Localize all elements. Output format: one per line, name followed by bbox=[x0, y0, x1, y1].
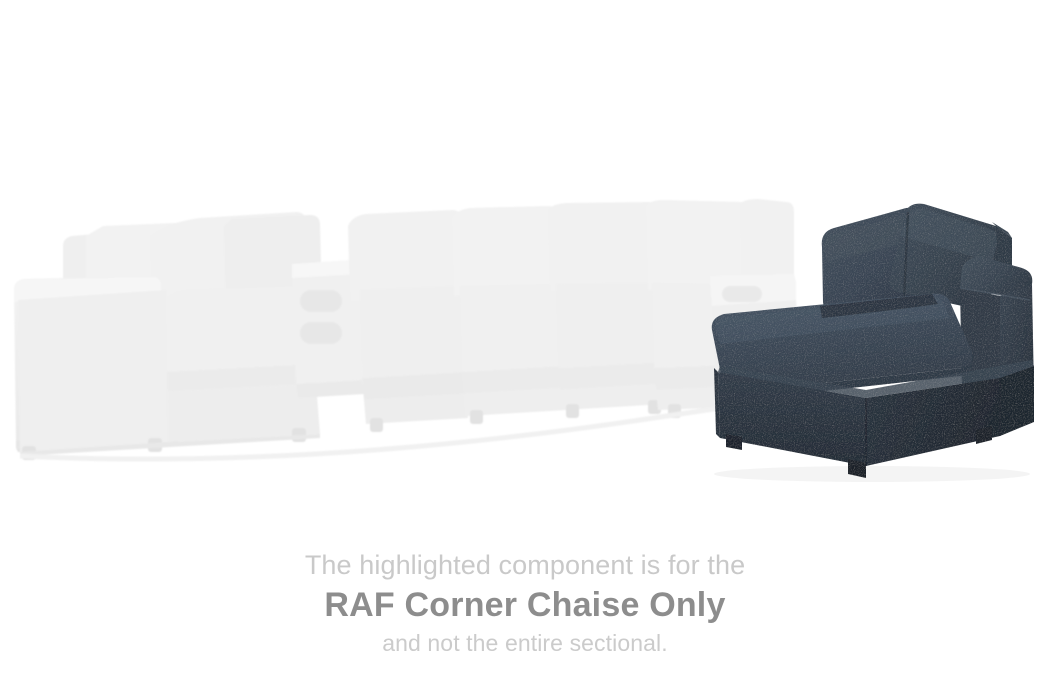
caption-component-name: RAF Corner Chaise Only bbox=[0, 582, 1050, 628]
chaise-ground-shadow bbox=[714, 466, 1030, 482]
ghost-leg bbox=[566, 404, 579, 418]
sectional-illustration: Modular sectional sofa with the right-ar… bbox=[0, 0, 1050, 520]
cupholder-icon bbox=[300, 322, 342, 344]
cupholder-icon bbox=[300, 290, 342, 312]
caption-block: The highlighted component is for the RAF… bbox=[0, 548, 1050, 658]
product-highlight-page: Modular sectional sofa with the right-ar… bbox=[0, 0, 1050, 700]
ghost-module-laf-loveseat bbox=[14, 212, 322, 460]
caption-line-primary: The highlighted component is for the bbox=[0, 548, 1050, 582]
ghost-module-armless-left bbox=[348, 210, 468, 432]
cupholder-icon bbox=[722, 286, 762, 302]
ghost-leg bbox=[470, 410, 483, 424]
ghost-leg bbox=[370, 418, 383, 432]
ghosted-sectional-group bbox=[14, 199, 800, 460]
caption-line-disclaimer: and not the entire sectional. bbox=[0, 628, 1050, 658]
